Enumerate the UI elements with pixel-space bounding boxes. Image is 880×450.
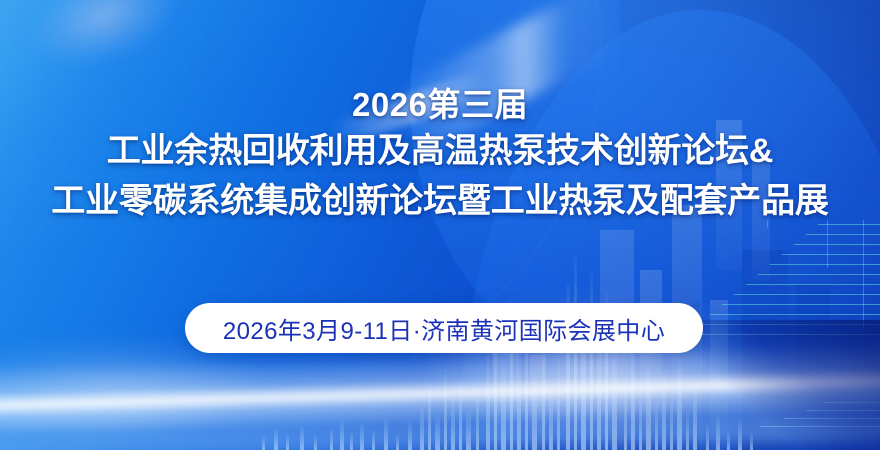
event-title-block: 2026第三届 工业余热回收利用及高温热泵技术创新论坛& 工业零碳系统集成创新论… [0, 84, 880, 226]
event-banner: 2026第三届 工业余热回收利用及高温热泵技术创新论坛& 工业零碳系统集成创新论… [0, 0, 880, 450]
event-title-line-1: 2026第三届 [0, 84, 880, 126]
event-title-line-3: 工业零碳系统集成创新论坛暨工业热泵及配套产品展 [0, 176, 880, 226]
date-venue-pill: 2026年3月9-11日·济南黄河国际会展中心 [185, 303, 703, 353]
date-venue-text: 2026年3月9-11日·济南黄河国际会展中心 [223, 311, 665, 346]
banner-content: 2026第三届 工业余热回收利用及高温热泵技术创新论坛& 工业零碳系统集成创新论… [0, 0, 880, 450]
event-title-line-2: 工业余热回收利用及高温热泵技术创新论坛& [0, 126, 880, 176]
